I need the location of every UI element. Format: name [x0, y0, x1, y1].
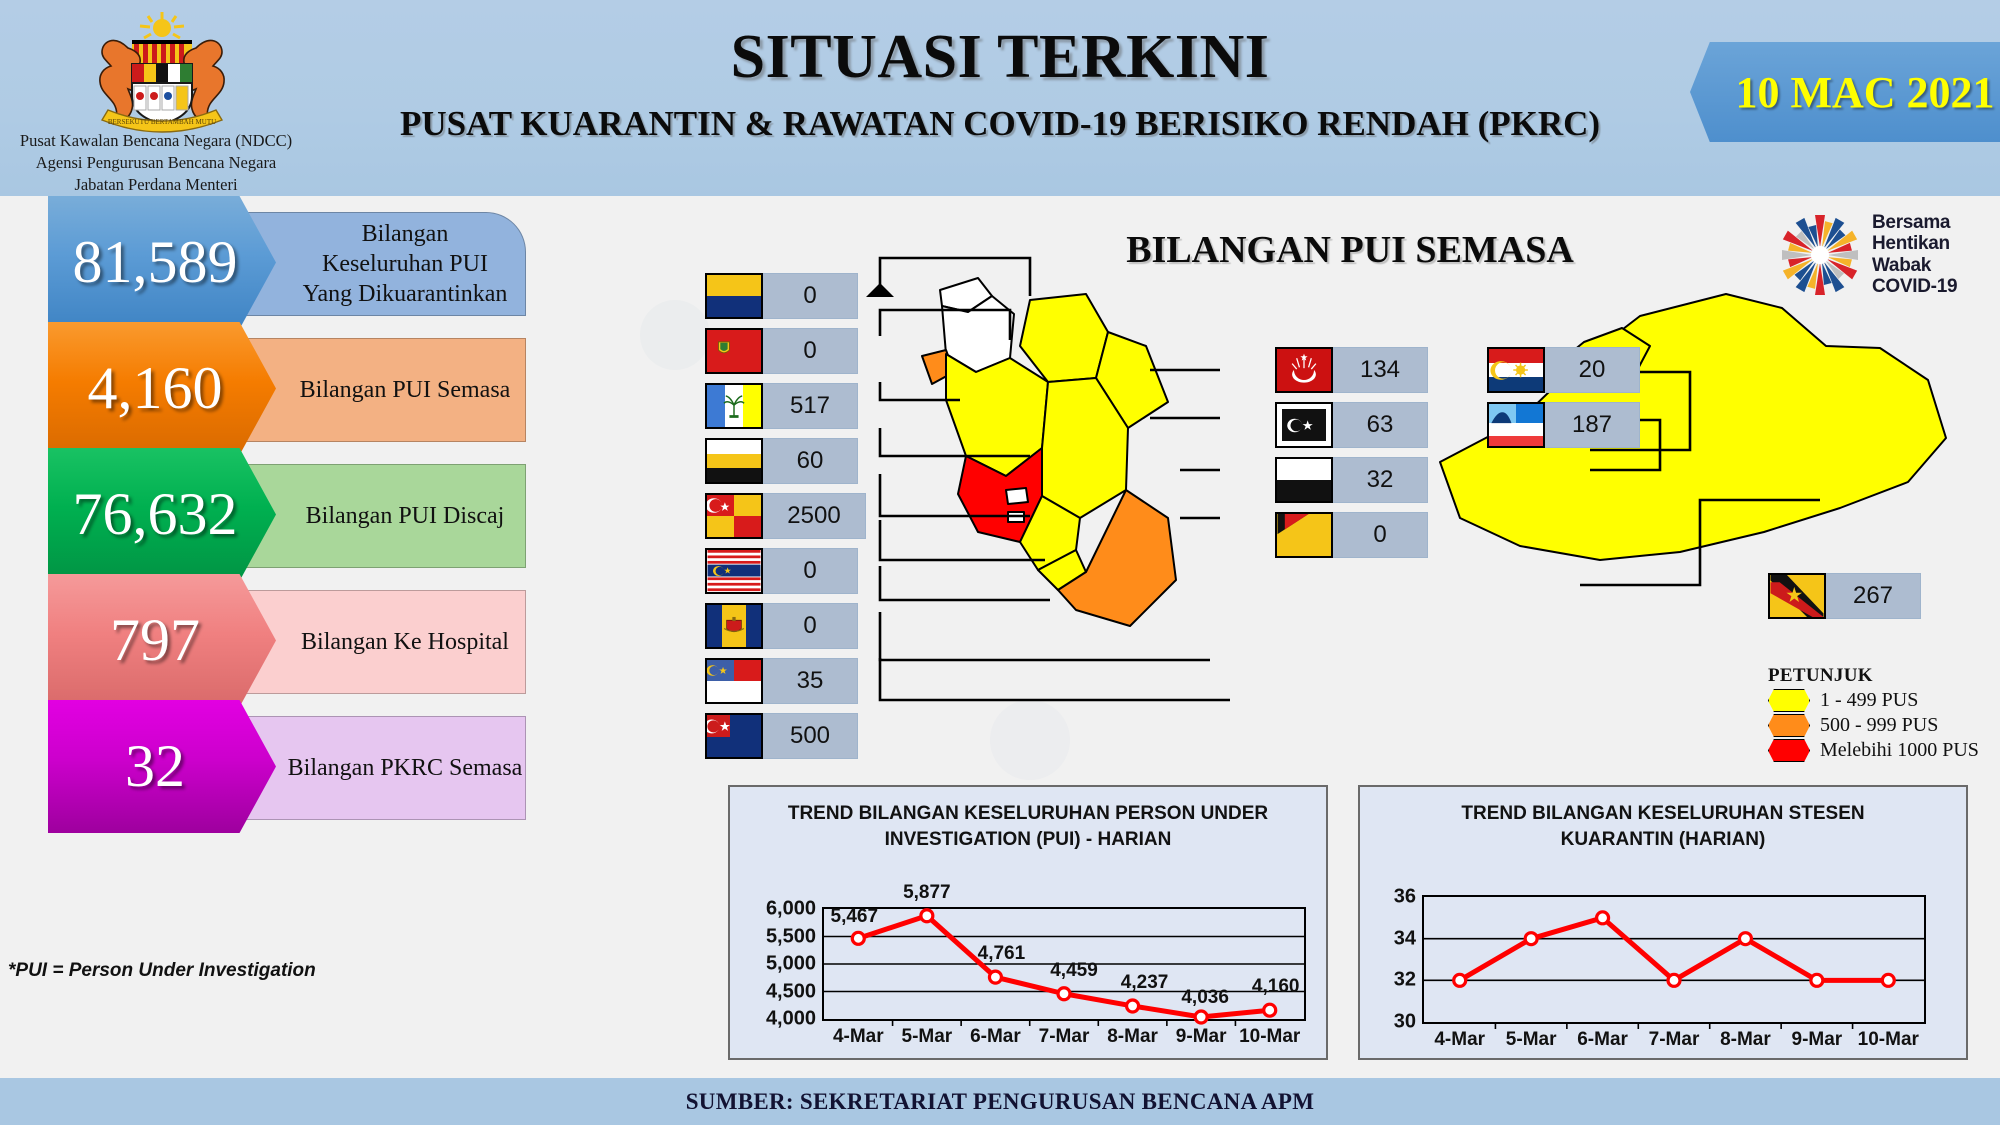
date-badge-label: 10 MAC 2021 [1715, 67, 1994, 118]
flag-negeri-sembilan-icon [705, 658, 763, 704]
flag-kelantan-icon [1275, 347, 1333, 393]
state-chip-perlis[interactable]: 0 [705, 273, 858, 319]
state-chip-selangor[interactable]: 2500 [705, 493, 866, 539]
chart-data-point [1127, 1000, 1139, 1012]
flag-terengganu-icon [1275, 402, 1333, 448]
agency-line-3: Jabatan Perdana Menteri [6, 174, 306, 196]
flag-perlis-icon [705, 273, 763, 319]
state-value: 0 [762, 273, 858, 319]
legend-label: Melebihi 1000 PUS [1820, 739, 1979, 762]
state-value: 267 [1825, 573, 1921, 619]
state-chip-sabah[interactable]: 187 [1487, 402, 1640, 448]
state-chip-pulau-pinang[interactable]: 517 [705, 383, 858, 429]
malaysia-map [880, 250, 2000, 720]
flag-sabah-icon [1487, 402, 1545, 448]
flag-kedah-icon [705, 328, 763, 374]
legend-title: PETUNJUK [1768, 665, 1998, 687]
legend-item-low: 1 - 499 PUS [1768, 689, 1998, 712]
stat-label: Bilangan PUI Semasa [285, 338, 525, 442]
stat-label: BilanganKeseluruhan PUIYang Dikuarantink… [285, 212, 525, 316]
stat-value: 76,632 [73, 480, 238, 549]
stat-card-value-chevron: 797 [48, 574, 276, 707]
chart-data-label: 4,237 [1121, 972, 1169, 994]
map-state-putrajaya [1008, 512, 1024, 522]
state-chip-melaka[interactable]: 0 [1275, 512, 1428, 558]
state-chip-kuala-lumpur[interactable]: 0 [705, 548, 858, 594]
chart-y-tick-label: 5,000 [766, 953, 824, 976]
chart-title: TREND BILANGAN KESELURUHAN STESEN KUARAN… [1360, 801, 1966, 852]
chart-data-point [1739, 933, 1751, 945]
chart-data-point [1811, 974, 1823, 986]
chart-data-point [1264, 1004, 1276, 1016]
chart-data-label: 4,761 [978, 943, 1026, 965]
chart-title-line-1: TREND BILANGAN KESELURUHAN PERSON UNDER [730, 801, 1326, 827]
chart-title-line-1: TREND BILANGAN KESELURUHAN STESEN [1360, 801, 1966, 827]
state-chip-kedah[interactable]: 0 [705, 328, 858, 374]
chart-plot-area: 4,0004,5005,0005,5006,0004-Mar5-Mar6-Mar… [822, 907, 1306, 1021]
state-chip-johor[interactable]: 500 [705, 713, 858, 759]
state-value: 0 [762, 603, 858, 649]
stat-value: 797 [110, 606, 200, 675]
stat-card-value-chevron: 32 [48, 700, 276, 833]
state-value: 517 [762, 383, 858, 429]
flag-putrajaya-icon [705, 603, 763, 649]
state-chip-sarawak[interactable]: 267 [1768, 573, 1921, 619]
legend-swatch-orange [1768, 714, 1810, 737]
stat-label: Bilangan PKRC Semasa [285, 716, 525, 820]
chart-data-label: 4,160 [1252, 976, 1300, 998]
chart-line-series [1460, 918, 1889, 981]
chart-data-point [1058, 988, 1070, 1000]
chart-x-tick-label: 7-Mar [1649, 1022, 1700, 1051]
state-value: 134 [1332, 347, 1428, 393]
flag-pulau-pinang-icon [705, 383, 763, 429]
stat-value: 32 [125, 732, 185, 801]
agency-line-2: Agensi Pengurusan Bencana Negara [6, 152, 306, 174]
legend-swatch-yellow [1768, 689, 1810, 712]
stat-card-current-pkrc: 32 Bilangan PKRC Semasa [0, 700, 540, 835]
state-value: 35 [762, 658, 858, 704]
chart-y-tick-label: 36 [1394, 886, 1424, 909]
flag-melaka-icon [1275, 512, 1333, 558]
flag-sarawak-icon [1768, 573, 1826, 619]
chart-stesen-kuarantin-harian: TREND BILANGAN KESELURUHAN STESEN KUARAN… [1358, 785, 1968, 1060]
bersama-line-1: Bersama [1872, 212, 1990, 233]
legend-label: 1 - 499 PUS [1820, 689, 1918, 712]
chart-data-label: 5,467 [831, 906, 879, 928]
flag-selangor-icon [705, 493, 763, 539]
chart-data-point [989, 971, 1001, 983]
map-state-kuala-lumpur [1006, 488, 1028, 504]
date-badge: 10 MAC 2021 [1690, 42, 2000, 142]
state-chip-perak[interactable]: 60 [705, 438, 858, 484]
infographic-root: BERSEKUTU BERTAMBAH MUTU Pusat Kawalan B… [0, 0, 2000, 1125]
chart-y-tick-label: 4,500 [766, 980, 824, 1003]
stat-card-current-pui: 4,160 Bilangan PUI Semasa [0, 322, 540, 457]
chart-y-tick-label: 32 [1394, 969, 1424, 992]
state-value: 32 [1332, 457, 1428, 503]
map-legend: PETUNJUK 1 - 499 PUS 500 - 999 PUS Meleb… [1768, 665, 1998, 762]
chart-x-tick-label: 10-Mar [1858, 1022, 1919, 1051]
page-header: BERSEKUTU BERTAMBAH MUTU Pusat Kawalan B… [0, 0, 2000, 196]
chart-x-tick-label: 8-Mar [1107, 1019, 1158, 1048]
chart-pui-harian: TREND BILANGAN KESELURUHAN PERSON UNDER … [728, 785, 1328, 1060]
stat-card-total-quarantined: 81,589 BilanganKeseluruhan PUIYang Dikua… [0, 196, 540, 331]
chart-series-svg [1424, 897, 1924, 1022]
chart-data-label: 5,877 [903, 882, 951, 904]
watermark-virus-3 [640, 300, 710, 370]
chart-x-tick-label: 9-Mar [1176, 1019, 1227, 1048]
chart-plot-area: 303234364-Mar5-Mar6-Mar7-Mar8-Mar9-Mar10… [1422, 895, 1926, 1024]
flag-kuala-lumpur-icon [705, 548, 763, 594]
page-footer: SUMBER: SEKRETARIAT PENGURUSAN BENCANA A… [0, 1078, 2000, 1125]
page-title: SITUASI TERKINI [300, 22, 1700, 93]
chart-y-tick-label: 30 [1394, 1011, 1424, 1034]
chart-x-tick-label: 5-Mar [1506, 1022, 1557, 1051]
chart-y-tick-label: 5,500 [766, 925, 824, 948]
chart-x-tick-label: 10-Mar [1239, 1019, 1300, 1048]
chart-x-tick-label: 6-Mar [970, 1019, 1021, 1048]
chart-data-point [921, 910, 933, 922]
legend-label: 500 - 999 PUS [1820, 714, 1938, 737]
state-chip-pahang[interactable]: 32 [1275, 457, 1428, 503]
legend-item-mid: 500 - 999 PUS [1768, 714, 1998, 737]
stat-card-value-chevron: 4,160 [48, 322, 276, 455]
stat-card-to-hospital: 797 Bilangan Ke Hospital [0, 574, 540, 709]
state-value: 60 [762, 438, 858, 484]
chart-y-tick-label: 4,000 [766, 1008, 824, 1031]
state-chip-kelantan[interactable]: 134 [1275, 347, 1428, 393]
chart-y-tick-label: 6,000 [766, 898, 824, 921]
state-value: 187 [1544, 402, 1640, 448]
legend-swatch-red [1768, 739, 1810, 762]
state-value: 0 [1332, 512, 1428, 558]
flag-johor-icon [705, 713, 763, 759]
chart-title-line-2: KUARANTIN (HARIAN) [1360, 827, 1966, 853]
chart-y-tick-label: 34 [1394, 927, 1424, 950]
chart-x-tick-label: 4-Mar [833, 1019, 884, 1048]
state-value: 63 [1332, 402, 1428, 448]
map-state-kelantan [1020, 294, 1108, 382]
legend-item-high: Melebihi 1000 PUS [1768, 739, 1998, 762]
page-subtitle: PUSAT KUARANTIN & RAWATAN COVID-19 BERIS… [180, 104, 1820, 144]
chart-x-tick-label: 6-Mar [1577, 1022, 1628, 1051]
chart-data-point [1454, 974, 1466, 986]
chart-data-point [1882, 974, 1894, 986]
stat-value: 4,160 [88, 354, 223, 423]
footer-source-label: SUMBER: SEKRETARIAT PENGURUSAN BENCANA A… [686, 1089, 1315, 1115]
chart-data-point [852, 932, 864, 944]
stat-card-discharged-pui: 76,632 Bilangan PUI Discaj [0, 448, 540, 583]
stat-card-value-chevron: 81,589 [48, 196, 276, 329]
flag-labuan-icon [1487, 347, 1545, 393]
state-chip-labuan[interactable]: 20 [1487, 347, 1640, 393]
state-chip-negeri-sembilan[interactable]: 35 [705, 658, 858, 704]
chart-data-point [1668, 974, 1680, 986]
stat-label: Bilangan Ke Hospital [285, 590, 525, 694]
chart-data-point [1597, 912, 1609, 924]
chart-data-point [1525, 933, 1537, 945]
state-value: 2500 [762, 493, 866, 539]
chart-x-tick-label: 4-Mar [1434, 1022, 1485, 1051]
state-value: 500 [762, 713, 858, 759]
state-value: 20 [1544, 347, 1640, 393]
flag-pahang-icon [1275, 457, 1333, 503]
flag-perak-icon [705, 438, 763, 484]
footnote-pui-definition: *PUI = Person Under Investigation [8, 960, 488, 982]
chart-data-label: 4,459 [1050, 960, 1098, 982]
chart-x-tick-label: 9-Mar [1792, 1022, 1843, 1051]
chart-x-tick-label: 7-Mar [1039, 1019, 1090, 1048]
chart-data-label: 4,036 [1181, 987, 1229, 1009]
chart-x-tick-label: 5-Mar [902, 1019, 953, 1048]
stat-card-value-chevron: 76,632 [48, 448, 276, 581]
state-value: 0 [762, 328, 858, 374]
chart-title-line-2: INVESTIGATION (PUI) - HARIAN [730, 827, 1326, 853]
state-chip-putrajaya[interactable]: 0 [705, 603, 858, 649]
chart-x-tick-label: 8-Mar [1720, 1022, 1771, 1051]
stat-label: Bilangan PUI Discaj [285, 464, 525, 568]
chart-title: TREND BILANGAN KESELURUHAN PERSON UNDER … [730, 801, 1326, 852]
stat-value: 81,589 [73, 228, 238, 297]
state-chip-terengganu[interactable]: 63 [1275, 402, 1428, 448]
state-value: 0 [762, 548, 858, 594]
